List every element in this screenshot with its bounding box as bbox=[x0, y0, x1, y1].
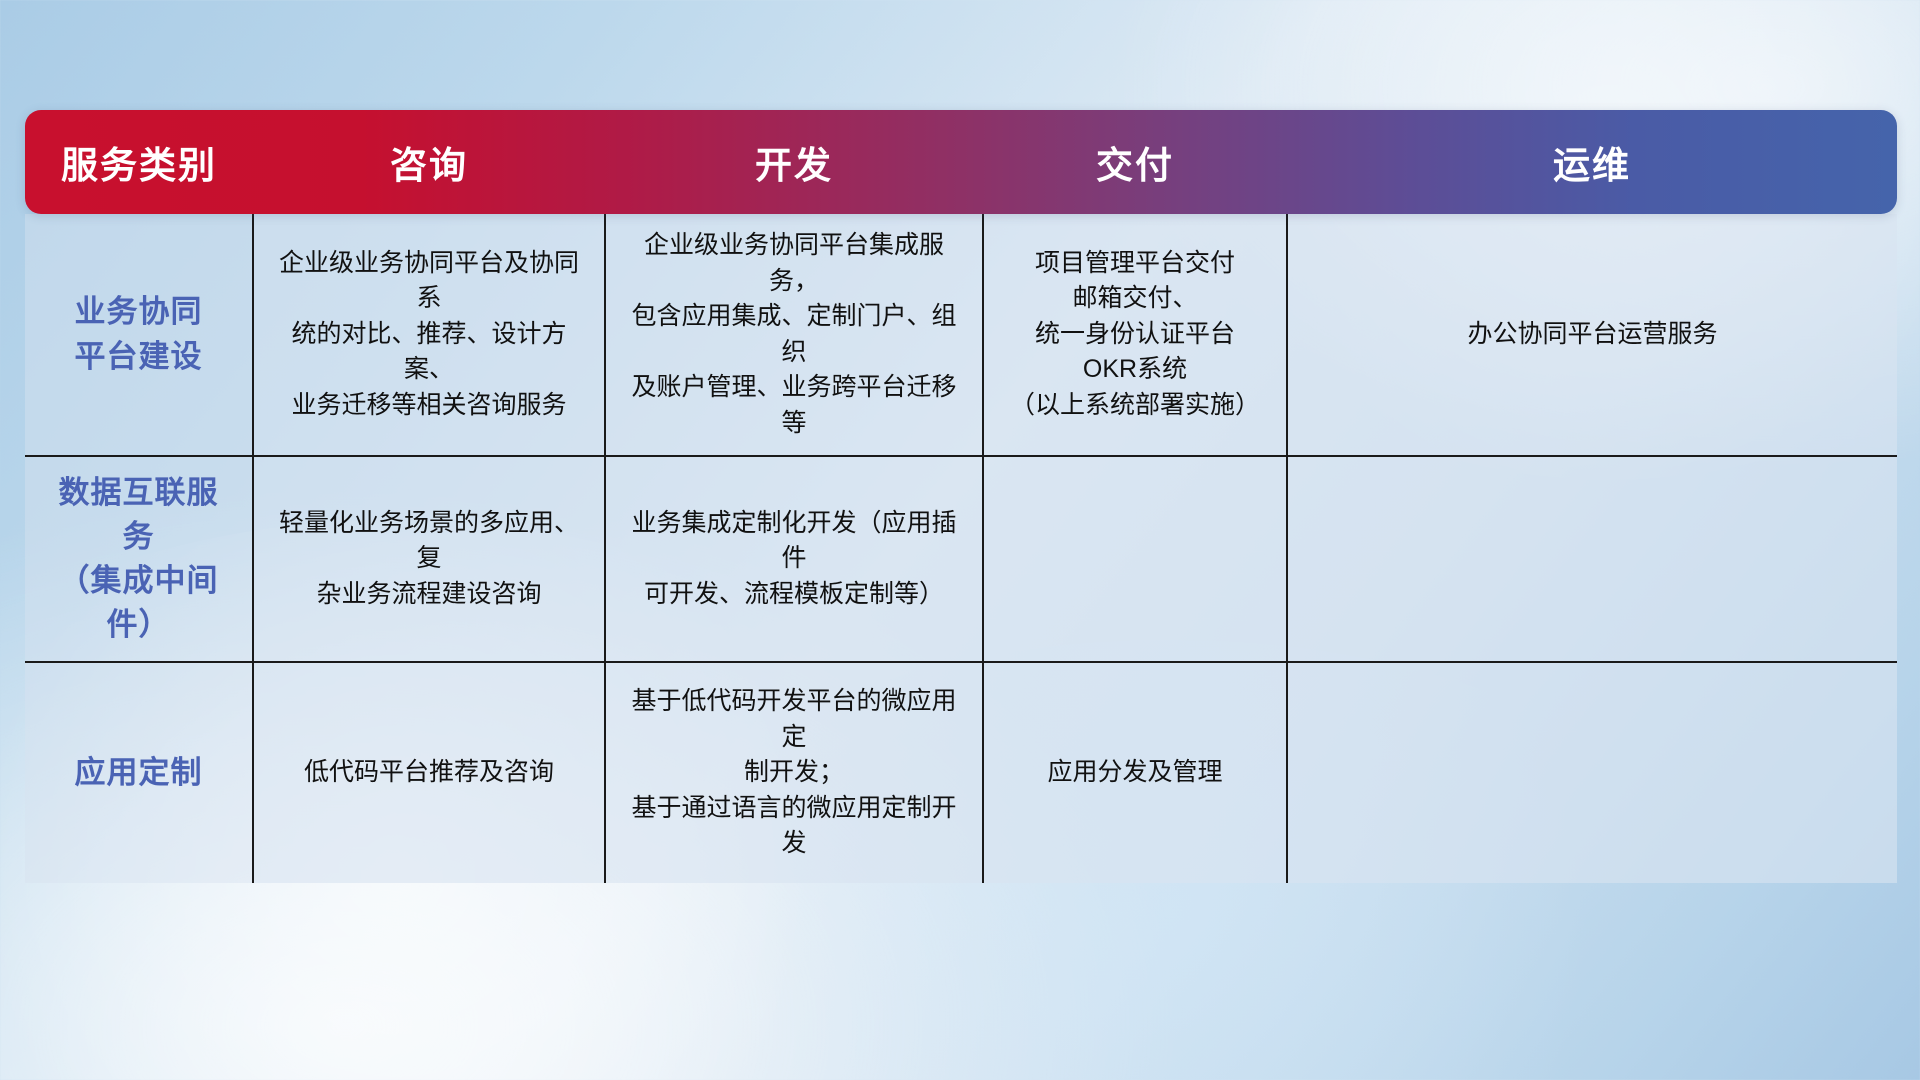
cell-text: 业务集成定制化开发（应用插件 可开发、流程模板定制等） bbox=[624, 506, 964, 613]
cell-development: 基于低代码开发平台的微应用定 制开发； 基于通过语言的微应用定制开发 bbox=[605, 662, 983, 883]
table-body: 业务协同 平台建设 企业级业务协同平台及协同系 统的对比、推荐、设计方案、 业务… bbox=[25, 214, 1897, 883]
table-row: 业务协同 平台建设 企业级业务协同平台及协同系 统的对比、推荐、设计方案、 业务… bbox=[25, 214, 1897, 456]
column-header-development: 开发 bbox=[605, 110, 983, 214]
cell-operations bbox=[1287, 456, 1897, 662]
cell-development: 企业级业务协同平台集成服务， 包含应用集成、定制门户、组织 及账户管理、业务跨平… bbox=[605, 214, 983, 456]
cell-consulting: 低代码平台推荐及咨询 bbox=[253, 662, 605, 883]
cell-text: 基于低代码开发平台的微应用定 制开发； 基于通过语言的微应用定制开发 bbox=[624, 684, 964, 862]
cell-text: 应用定制 bbox=[43, 751, 234, 795]
table-header: 服务类别 咨询 开发 交付 运维 bbox=[25, 110, 1897, 214]
cell-delivery bbox=[983, 456, 1287, 662]
column-header-operations: 运维 bbox=[1287, 110, 1897, 214]
cell-delivery: 项目管理平台交付 邮箱交付、 统一身份认证平台 OKR系统 （以上系统部署实施） bbox=[983, 214, 1287, 456]
header-row: 服务类别 咨询 开发 交付 运维 bbox=[25, 110, 1897, 214]
slide-canvas: 服务类别 咨询 开发 交付 运维 业务协同 平台建设 企业级业务协同平台及协同系… bbox=[0, 0, 1920, 1080]
cell-text: 企业级业务协同平台集成服务， 包含应用集成、定制门户、组织 及账户管理、业务跨平… bbox=[624, 228, 964, 441]
column-header-delivery: 交付 bbox=[983, 110, 1287, 214]
cell-delivery: 应用分发及管理 bbox=[983, 662, 1287, 883]
cell-text: 轻量化业务场景的多应用、复 杂业务流程建设咨询 bbox=[272, 506, 586, 613]
cell-text: 低代码平台推荐及咨询 bbox=[272, 755, 586, 791]
cell-text: 业务协同 平台建设 bbox=[43, 290, 234, 378]
table-row: 应用定制 低代码平台推荐及咨询 基于低代码开发平台的微应用定 制开发； 基于通过… bbox=[25, 662, 1897, 883]
cell-text: 项目管理平台交付 邮箱交付、 统一身份认证平台 OKR系统 （以上系统部署实施） bbox=[1002, 246, 1268, 424]
cell-text: 办公协同平台运营服务 bbox=[1306, 317, 1879, 353]
table-row: 数据互联服务 （集成中间件） 轻量化业务场景的多应用、复 杂业务流程建设咨询 业… bbox=[25, 456, 1897, 662]
row-category-label: 数据互联服务 （集成中间件） bbox=[25, 456, 253, 662]
service-matrix-wrapper: 服务类别 咨询 开发 交付 运维 业务协同 平台建设 企业级业务协同平台及协同系… bbox=[25, 110, 1897, 883]
column-header-category: 服务类别 bbox=[25, 110, 253, 214]
cell-development: 业务集成定制化开发（应用插件 可开发、流程模板定制等） bbox=[605, 456, 983, 662]
cell-text: 应用分发及管理 bbox=[1002, 755, 1268, 791]
cell-text: 企业级业务协同平台及协同系 统的对比、推荐、设计方案、 业务迁移等相关咨询服务 bbox=[272, 246, 586, 424]
cell-consulting: 轻量化业务场景的多应用、复 杂业务流程建设咨询 bbox=[253, 456, 605, 662]
cell-text: 数据互联服务 （集成中间件） bbox=[43, 471, 234, 647]
column-header-consulting: 咨询 bbox=[253, 110, 605, 214]
cell-operations bbox=[1287, 662, 1897, 883]
row-category-label: 业务协同 平台建设 bbox=[25, 214, 253, 456]
row-category-label: 应用定制 bbox=[25, 662, 253, 883]
cell-operations: 办公协同平台运营服务 bbox=[1287, 214, 1897, 456]
cell-consulting: 企业级业务协同平台及协同系 统的对比、推荐、设计方案、 业务迁移等相关咨询服务 bbox=[253, 214, 605, 456]
service-matrix-table: 服务类别 咨询 开发 交付 运维 业务协同 平台建设 企业级业务协同平台及协同系… bbox=[25, 110, 1897, 883]
